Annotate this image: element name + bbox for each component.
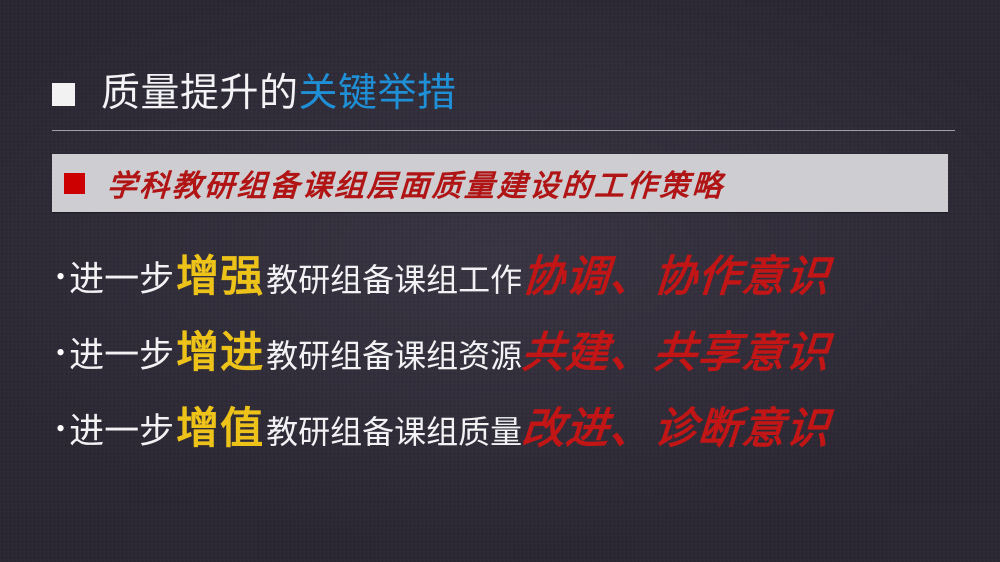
bullet-middle-text: 教研组备课组资源 xyxy=(266,331,522,377)
list-item: • 进一步 增进 教研组备课组资源 共建、共享意识 xyxy=(56,318,956,394)
title-divider xyxy=(52,130,955,131)
bullet-middle-text: 教研组备课组工作 xyxy=(266,255,522,301)
bullet-dot-icon: • xyxy=(56,416,65,442)
bullet-dot-icon: • xyxy=(56,340,65,366)
page-title-accent: 关键举措 xyxy=(299,71,457,116)
subtitle-banner: 学科教研组备课组层面质量建设的工作策略 xyxy=(52,154,948,212)
bullet-lead-text: 进一步 xyxy=(69,327,174,378)
page-title-text: 质量提升的关键举措 xyxy=(101,74,457,115)
bullet-lead-text: 进一步 xyxy=(69,251,174,302)
slide-canvas: 质量提升的关键举措 学科教研组备课组层面质量建设的工作策略 • 进一步 增强 教… xyxy=(0,0,1000,562)
list-item: • 进一步 增值 教研组备课组质量 改进、诊断意识 xyxy=(56,394,956,470)
page-title-prefix: 质量提升的 xyxy=(101,71,299,116)
subtitle-banner-text: 学科教研组备课组层面质量建设的工作策略 xyxy=(106,161,726,205)
red-square-bullet-icon xyxy=(64,173,85,194)
page-title: 质量提升的关键举措 xyxy=(52,74,457,115)
list-item: • 进一步 增强 教研组备课组工作 协调、协作意识 xyxy=(56,242,956,318)
bullet-emphasis-text: 增进 xyxy=(174,318,266,380)
bullet-middle-text: 教研组备课组质量 xyxy=(266,407,522,453)
bullet-highlight-text: 协调、协作意识 xyxy=(520,242,832,304)
bullet-highlight-text: 改进、诊断意识 xyxy=(520,394,832,456)
bullet-dot-icon: • xyxy=(56,264,65,290)
square-bullet-icon xyxy=(52,83,75,106)
bullet-list: • 进一步 增强 教研组备课组工作 协调、协作意识 • 进一步 增进 教研组备课… xyxy=(56,242,956,470)
bullet-highlight-text: 共建、共享意识 xyxy=(520,318,832,380)
bullet-emphasis-text: 增值 xyxy=(174,394,266,456)
bullet-emphasis-text: 增强 xyxy=(174,242,266,304)
bullet-lead-text: 进一步 xyxy=(69,403,174,454)
